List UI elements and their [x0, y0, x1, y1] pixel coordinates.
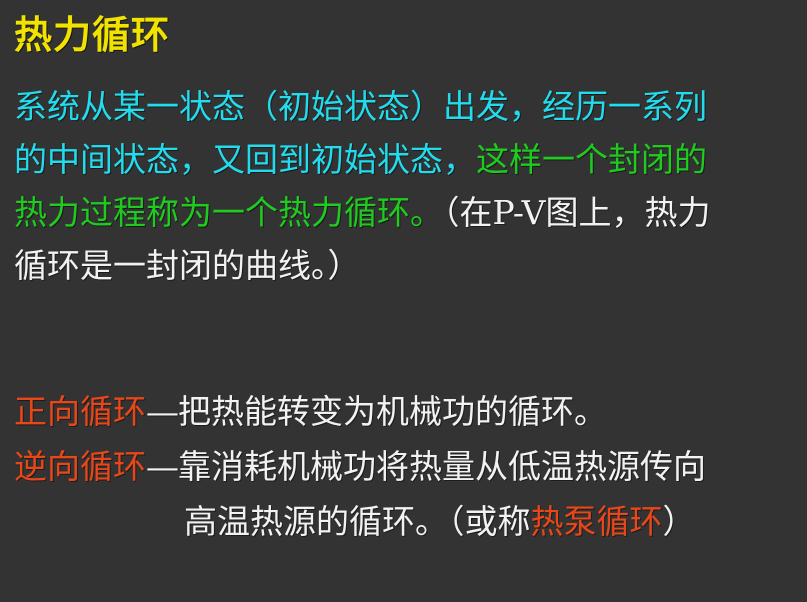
cycle-definitions: 正向循环—把热能转变为机械功的循环。 逆向循环—靠消耗机械功将热量从低温热源传向…	[14, 384, 804, 549]
reverse-cycle-dash: —	[146, 447, 178, 486]
reverse-cycle-continued-text: 高温热源的循环。（或称	[184, 502, 531, 541]
page-title: 热力循环	[14, 12, 170, 58]
forward-cycle-definition: 正向循环—把热能转变为机械功的循环。	[14, 384, 804, 439]
paragraph-line-2-cyan-text: 的中间状态，又回到初始状态，	[14, 140, 476, 179]
reverse-cycle-definition: 逆向循环—靠消耗机械功将热量从低温热源传向	[14, 439, 804, 494]
paragraph-line-3-green-text: 热力过程称为一个热力循环。	[14, 193, 443, 232]
paragraph-line-2-green-text: 这样一个封闭的	[476, 140, 707, 179]
reverse-cycle-definition-continued: 高温热源的循环。（或称热泵循环）	[14, 494, 804, 549]
forward-cycle-description: 把热能转变为机械功的循环。	[178, 392, 607, 431]
paragraph-line-1: 系统从某一状态（初始状态）出发，经历一系列	[14, 80, 796, 133]
paragraph-line-1-cyan-text: 系统从某一状态（初始状态）出发，经历一系列	[14, 87, 707, 126]
paragraph-line-4-white-text: 循环是一封闭的曲线。）	[14, 246, 361, 285]
forward-cycle-term: 正向循环	[14, 392, 146, 431]
paragraph-line-3: 热力过程称为一个热力循环。（在P-V图上，热力	[14, 186, 796, 239]
slide-canvas: 热力循环 系统从某一状态（初始状态）出发，经历一系列 的中间状态，又回到初始状态…	[0, 0, 807, 602]
reverse-cycle-closing-paren: ）	[663, 502, 696, 541]
paragraph-line-4: 循环是一封闭的曲线。）	[14, 239, 796, 292]
reverse-cycle-description: 靠消耗机械功将热量从低温热源传向	[178, 447, 706, 486]
reverse-cycle-term: 逆向循环	[14, 447, 146, 486]
definition-paragraph: 系统从某一状态（初始状态）出发，经历一系列 的中间状态，又回到初始状态，这样一个…	[14, 80, 796, 292]
paragraph-line-3-white-text: （在P-V图上，热力	[443, 193, 710, 232]
paragraph-line-2: 的中间状态，又回到初始状态，这样一个封闭的	[14, 133, 796, 186]
forward-cycle-dash: —	[146, 392, 178, 431]
heat-pump-cycle-term: 热泵循环	[531, 502, 663, 541]
